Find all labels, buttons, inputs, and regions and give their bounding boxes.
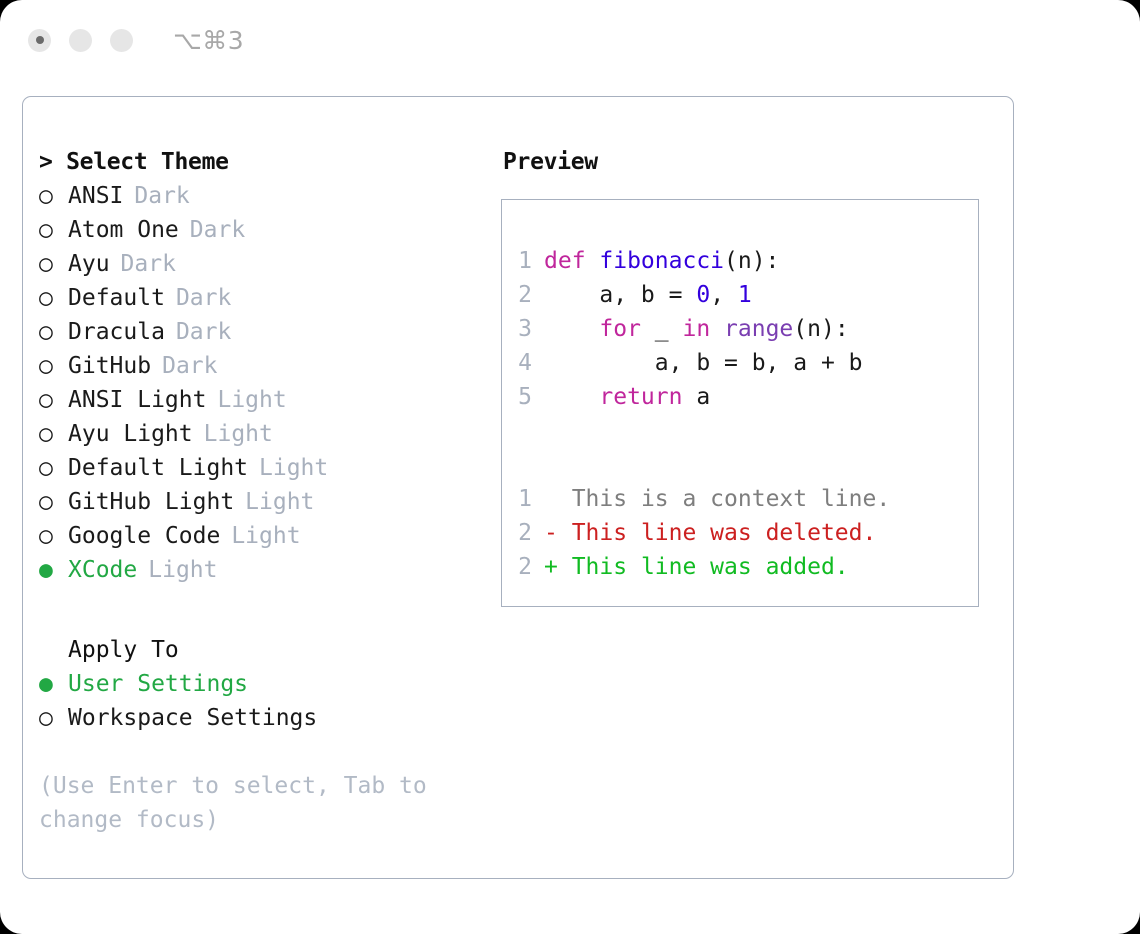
- radio-unselected-icon: ○: [39, 383, 68, 417]
- theme-option-label: ANSI Light: [68, 383, 206, 417]
- code-token-fn: fibonacci: [599, 248, 724, 274]
- code-diff-gap: [502, 414, 978, 448]
- code-token-pln: (n):: [724, 248, 779, 274]
- theme-option-kind: Dark: [165, 315, 231, 349]
- app-window: ⌥⌘3 > Select Theme ○ANSIDark○Atom OneDar…: [0, 0, 1140, 934]
- theme-option-kind: Light: [234, 485, 314, 519]
- code-token-pln: [544, 316, 599, 342]
- traffic-light-group: [28, 29, 133, 52]
- window-dot-three-icon[interactable]: [110, 29, 133, 52]
- theme-option-label: Ayu: [68, 247, 110, 281]
- apply-to-heading: Apply To: [39, 633, 501, 667]
- radio-unselected-icon: ○: [39, 519, 68, 553]
- window-title: ⌥⌘3: [173, 26, 244, 55]
- theme-option-kind: Light: [248, 451, 328, 485]
- theme-option-dracula[interactable]: ○DraculaDark: [39, 315, 501, 349]
- code-line-content: for _ in range(n):: [544, 312, 849, 346]
- theme-option-label: XCode: [68, 553, 137, 587]
- theme-option-kind: Dark: [165, 281, 231, 315]
- code-token-pln: _: [641, 316, 683, 342]
- theme-list: ○ANSIDark○Atom OneDark○AyuDark○DefaultDa…: [39, 179, 501, 587]
- code-token-kw: return: [599, 384, 682, 410]
- preview-box: 1def fibonacci(n):2 a, b = 0, 13 for _ i…: [501, 199, 979, 607]
- theme-option-ayu[interactable]: ○AyuDark: [39, 247, 501, 281]
- apply-to-option-label: User Settings: [68, 667, 248, 701]
- diff-marker: -: [544, 516, 572, 550]
- list-gap: [39, 587, 501, 633]
- code-token-num: 0: [696, 282, 710, 308]
- diff-line-text: This line was deleted.: [572, 516, 877, 550]
- code-token-pln: a: [682, 384, 710, 410]
- code-line-content: def fibonacci(n):: [544, 244, 779, 278]
- title-bar: ⌥⌘3: [0, 0, 1140, 80]
- radio-unselected-icon: ○: [39, 247, 68, 281]
- theme-option-github-light[interactable]: ○GitHub LightLight: [39, 485, 501, 519]
- theme-option-github[interactable]: ○GitHubDark: [39, 349, 501, 383]
- theme-option-label: GitHub Light: [68, 485, 234, 519]
- line-number: 3: [516, 312, 544, 346]
- radio-unselected-icon: ○: [39, 179, 68, 213]
- code-token-pln: ,: [710, 282, 738, 308]
- diff-marker: +: [544, 550, 572, 584]
- theme-option-kind: Dark: [179, 213, 245, 247]
- code-token-call: range: [724, 316, 793, 342]
- line-number: 2: [516, 278, 544, 312]
- apply-to-option-user-settings[interactable]: ●User Settings: [39, 667, 501, 701]
- code-line: 2 a, b = 0, 1: [502, 278, 978, 312]
- theme-picker-column: > Select Theme ○ANSIDark○Atom OneDark○Ay…: [23, 97, 501, 878]
- theme-option-label: ANSI: [68, 179, 123, 213]
- diff-sample: 1 This is a context line.2- This line wa…: [502, 482, 978, 584]
- line-number: 2: [516, 550, 544, 584]
- radio-unselected-icon: ○: [39, 485, 68, 519]
- code-token-pln: [710, 316, 724, 342]
- diff-line: 1 This is a context line.: [502, 482, 978, 516]
- code-line-content: a, b = 0, 1: [544, 278, 752, 312]
- code-token-pln: a, b =: [544, 282, 696, 308]
- theme-option-kind: Light: [137, 553, 217, 587]
- radio-unselected-icon: ○: [39, 417, 68, 451]
- hint-gap: [39, 735, 501, 769]
- line-number: 2: [516, 516, 544, 550]
- theme-option-kind: Dark: [123, 179, 189, 213]
- line-number: 1: [516, 482, 544, 516]
- theme-option-kind: Light: [206, 383, 286, 417]
- code-token-pln: [544, 384, 599, 410]
- theme-option-ansi-light[interactable]: ○ANSI LightLight: [39, 383, 501, 417]
- code-line: 5 return a: [502, 380, 978, 414]
- radio-selected-icon: ●: [39, 553, 68, 587]
- code-token-kw: for: [599, 316, 641, 342]
- theme-option-label: Default Light: [68, 451, 248, 485]
- theme-option-ansi[interactable]: ○ANSIDark: [39, 179, 501, 213]
- code-token-num: 1: [738, 282, 752, 308]
- theme-option-label: GitHub: [68, 349, 151, 383]
- diff-marker: [544, 482, 572, 516]
- theme-option-label: Ayu Light: [68, 417, 193, 451]
- preview-heading: Preview: [501, 145, 1013, 179]
- diff-line: 2- This line was deleted.: [502, 516, 978, 550]
- radio-selected-icon: ●: [39, 667, 68, 701]
- window-dot-two-icon[interactable]: [69, 29, 92, 52]
- code-line: 3 for _ in range(n):: [502, 312, 978, 346]
- code-sample: 1def fibonacci(n):2 a, b = 0, 13 for _ i…: [502, 244, 978, 414]
- theme-option-kind: Light: [193, 417, 273, 451]
- code-line-content: return a: [544, 380, 710, 414]
- code-token-kw: def: [544, 248, 599, 274]
- radio-unselected-icon: ○: [39, 315, 68, 349]
- theme-option-label: Dracula: [68, 315, 165, 349]
- radio-unselected-icon: ○: [39, 281, 68, 315]
- record-dot-inner-icon: [36, 36, 44, 44]
- code-token-kw: in: [682, 316, 710, 342]
- radio-unselected-icon: ○: [39, 701, 68, 735]
- code-line: 4 a, b = b, a + b: [502, 346, 978, 380]
- theme-option-label: Google Code: [68, 519, 220, 553]
- radio-unselected-icon: ○: [39, 349, 68, 383]
- apply-to-option-workspace-settings[interactable]: ○Workspace Settings: [39, 701, 501, 735]
- preview-column: Preview 1def fibonacci(n):2 a, b = 0, 13…: [501, 97, 1013, 878]
- diff-line: 2+ This line was added.: [502, 550, 978, 584]
- theme-option-ayu-light[interactable]: ○Ayu LightLight: [39, 417, 501, 451]
- code-token-pln: a, b = b, a + b: [544, 350, 863, 376]
- theme-option-xcode[interactable]: ●XCodeLight: [39, 553, 501, 587]
- theme-option-kind: Dark: [151, 349, 217, 383]
- theme-option-label: Default: [68, 281, 165, 315]
- line-number: 5: [516, 380, 544, 414]
- apply-to-list: ●User Settings○Workspace Settings: [39, 667, 501, 735]
- keyboard-hint: (Use Enter to select, Tab to change focu…: [39, 769, 459, 837]
- code-diff-gap-2: [502, 448, 978, 482]
- record-dot-icon[interactable]: [28, 29, 51, 52]
- theme-option-kind: Dark: [110, 247, 176, 281]
- theme-option-atom-one[interactable]: ○Atom OneDark: [39, 213, 501, 247]
- theme-option-default-light[interactable]: ○Default LightLight: [39, 451, 501, 485]
- radio-unselected-icon: ○: [39, 451, 68, 485]
- apply-to-option-label: Workspace Settings: [68, 701, 317, 735]
- diff-line-text: This line was added.: [572, 550, 849, 584]
- main-panel: > Select Theme ○ANSIDark○Atom OneDark○Ay…: [22, 96, 1014, 879]
- code-line-content: a, b = b, a + b: [544, 346, 863, 380]
- diff-line-text: This is a context line.: [572, 482, 891, 516]
- theme-option-google-code[interactable]: ○Google CodeLight: [39, 519, 501, 553]
- code-token-pln: (n):: [793, 316, 848, 342]
- theme-option-kind: Light: [220, 519, 300, 553]
- theme-option-default[interactable]: ○DefaultDark: [39, 281, 501, 315]
- theme-option-label: Atom One: [68, 213, 179, 247]
- select-theme-heading: > Select Theme: [39, 145, 501, 179]
- line-number: 4: [516, 346, 544, 380]
- radio-unselected-icon: ○: [39, 213, 68, 247]
- code-line: 1def fibonacci(n):: [502, 244, 978, 278]
- line-number: 1: [516, 244, 544, 278]
